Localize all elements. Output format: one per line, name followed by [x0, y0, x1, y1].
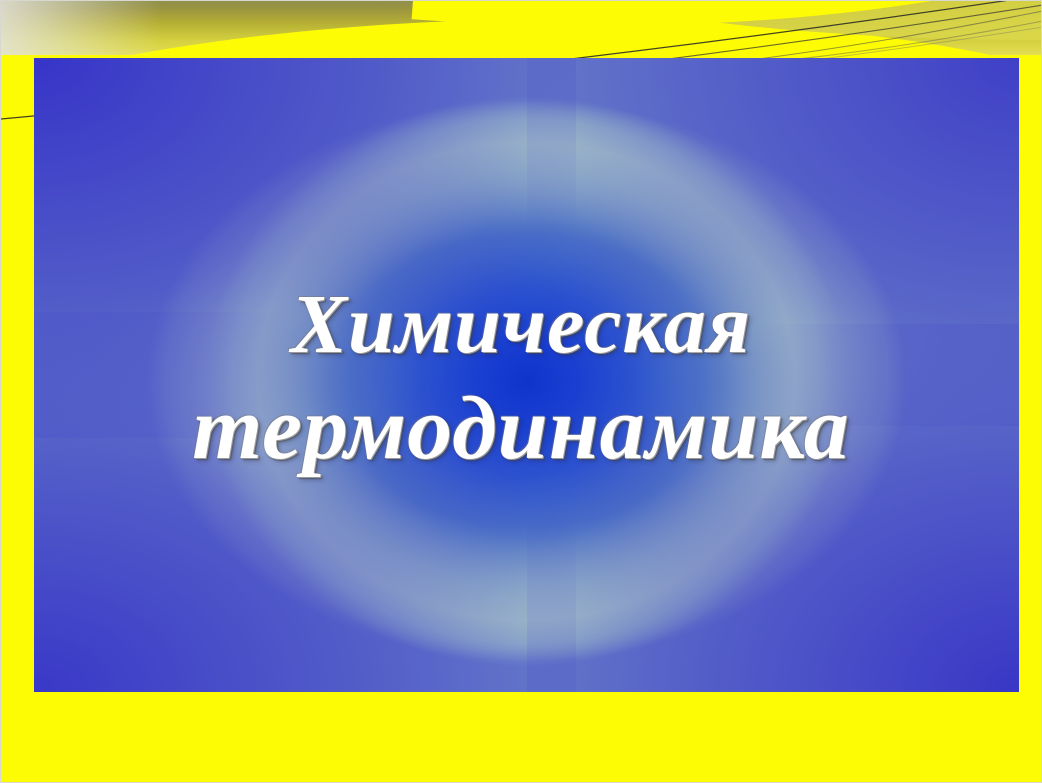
band-left-fade: [1, 1, 231, 55]
title-line-1: Химическая: [1, 273, 1041, 377]
slide-title: Химическая термодинамика: [1, 273, 1041, 481]
presentation-slide: Химическая термодинамика: [0, 0, 1042, 783]
title-line-2: термодинамика: [1, 377, 1041, 481]
